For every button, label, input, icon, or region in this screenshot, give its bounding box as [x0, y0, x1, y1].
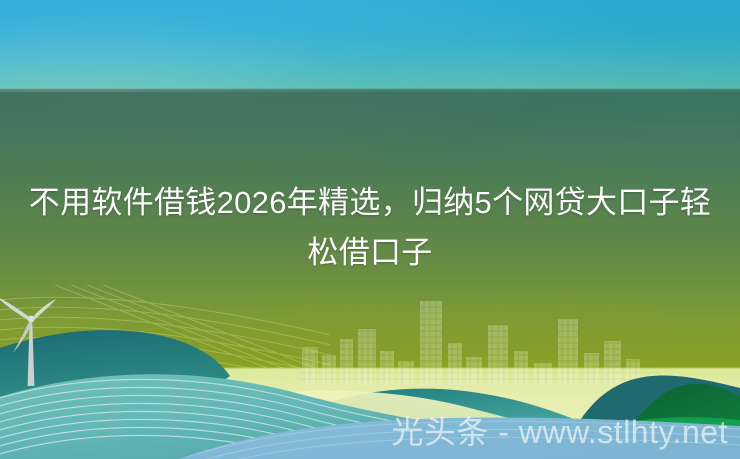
page-title: 不用软件借钱2026年精选，归纳5个网贷大口子轻松借口子: [0, 178, 740, 278]
water-waves: [0, 360, 740, 459]
eco-banner-image: 不用软件借钱2026年精选，归纳5个网贷大口子轻松借口子 光头条 - www.s…: [0, 0, 740, 459]
wind-turbine-icon: [0, 296, 68, 386]
